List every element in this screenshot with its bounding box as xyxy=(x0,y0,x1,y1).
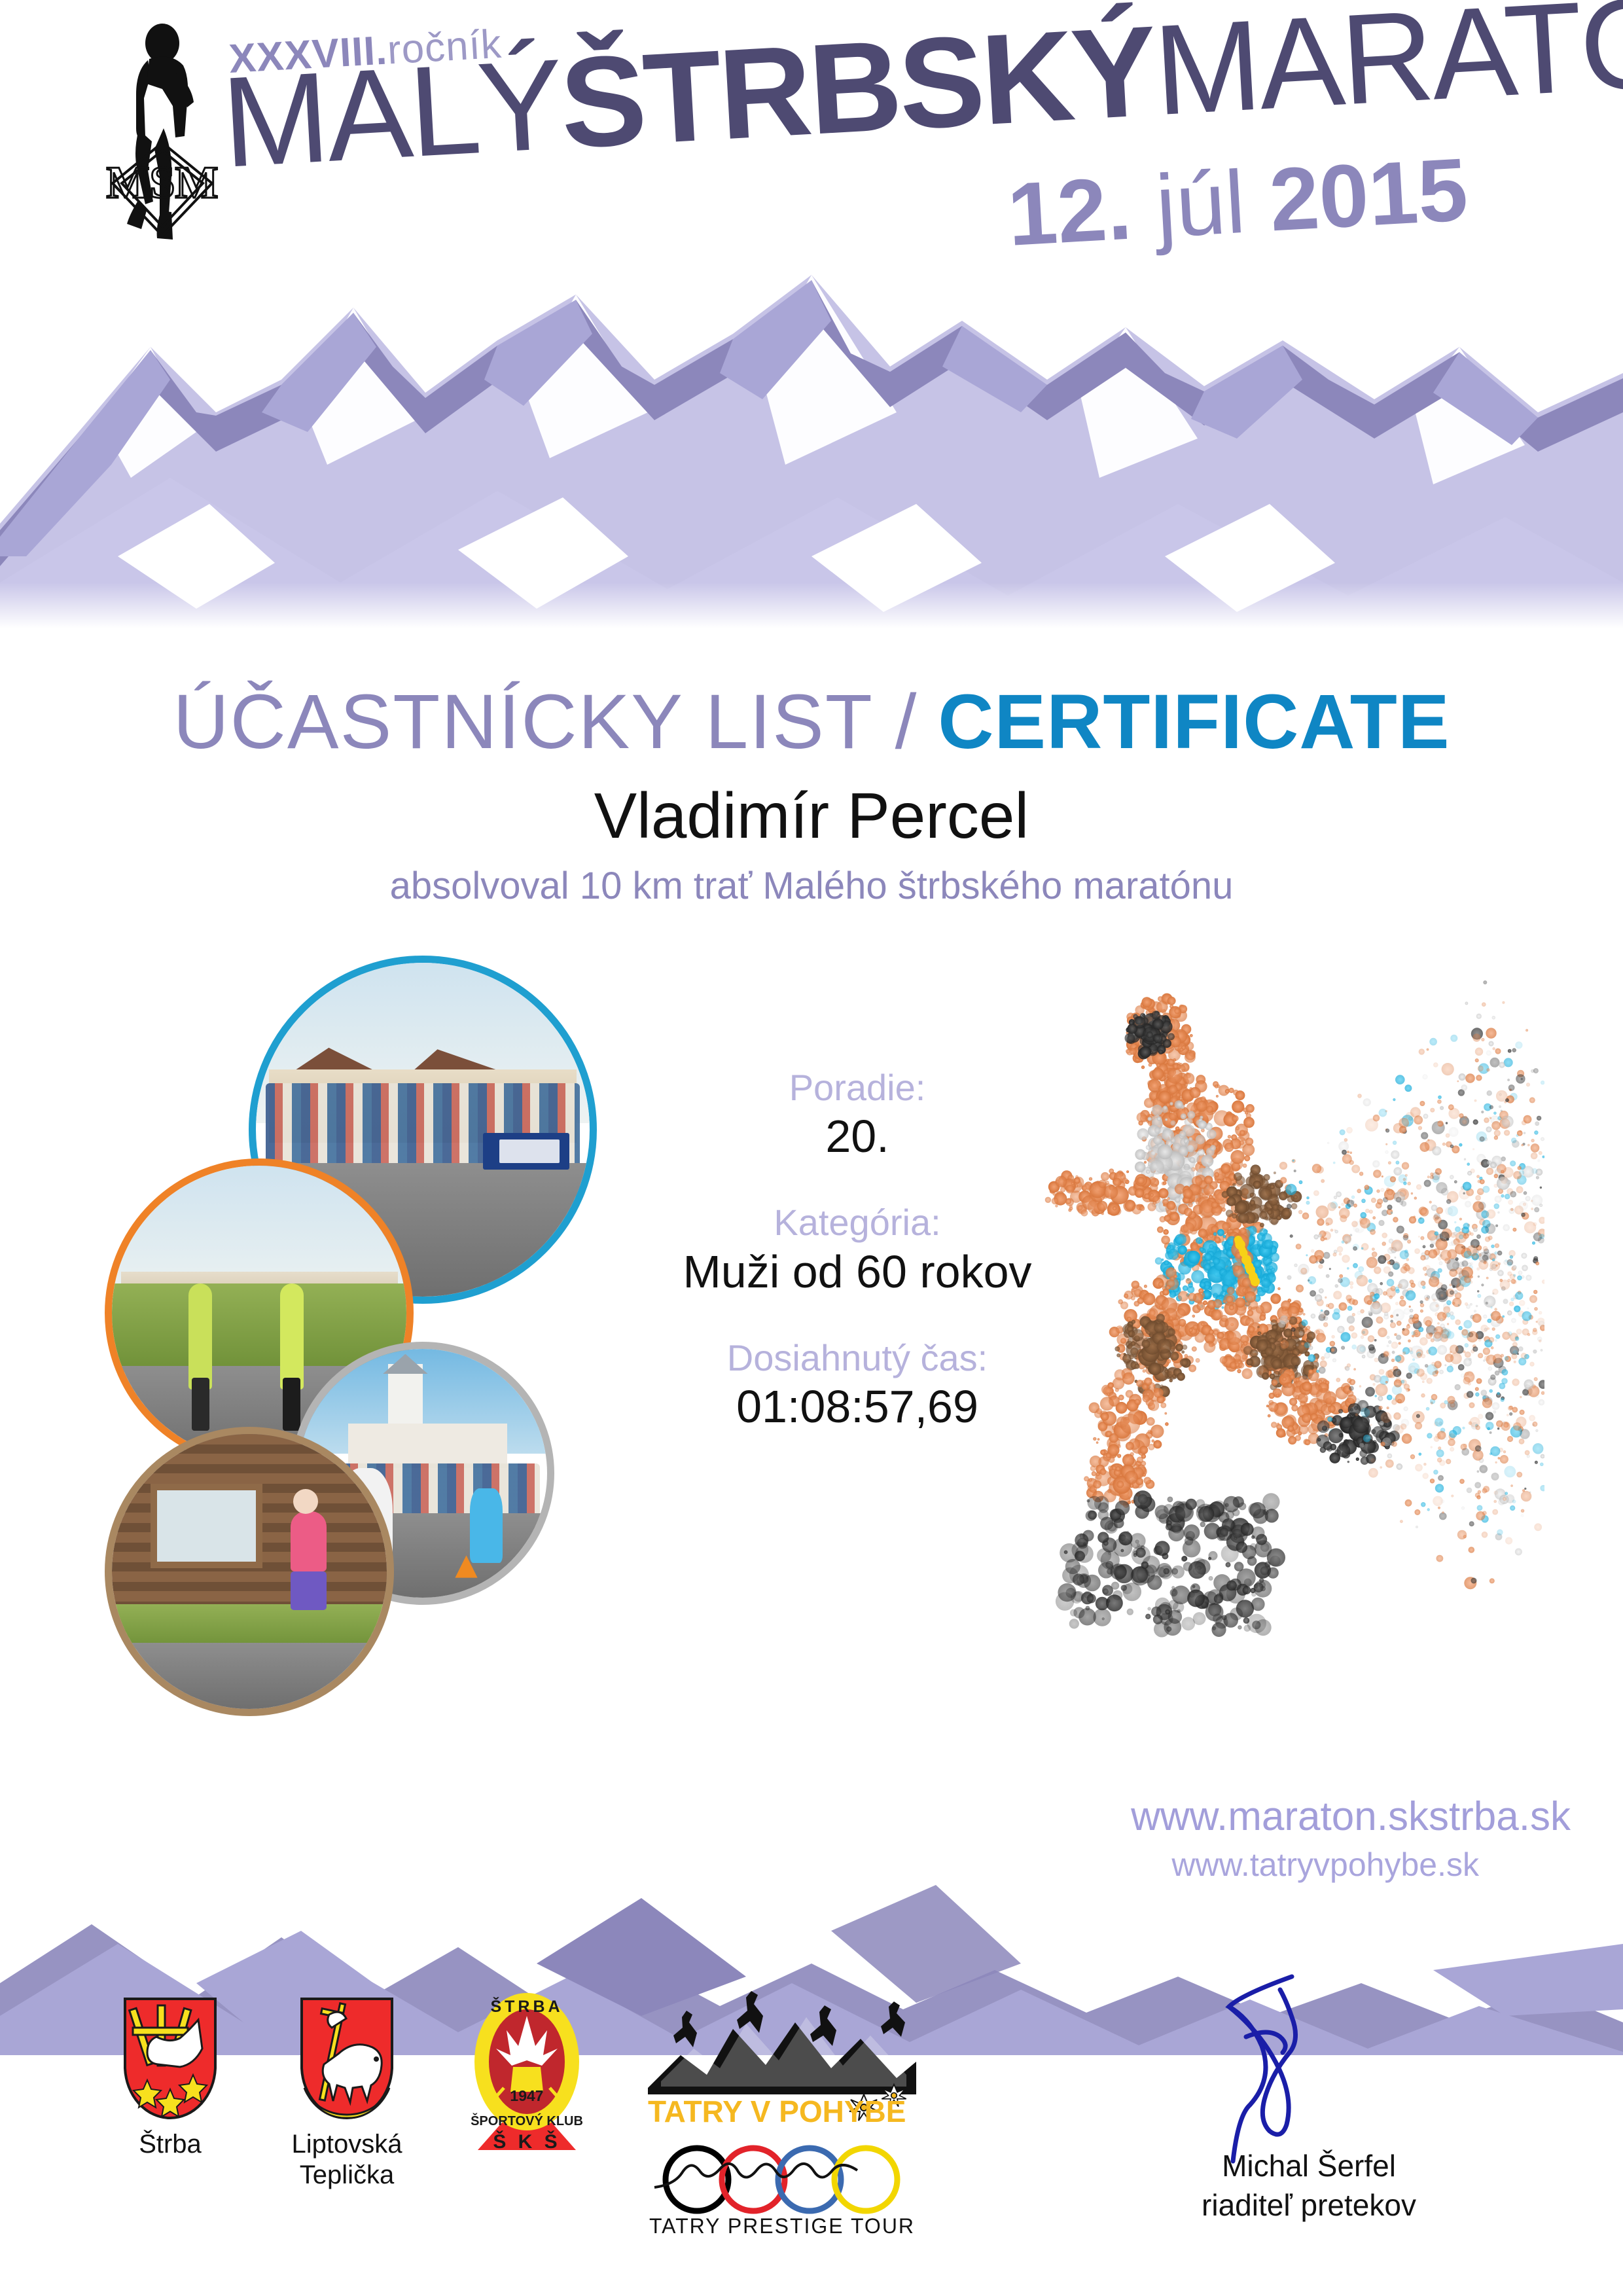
signature-role: riaditeľ pretekov xyxy=(1099,2186,1518,2225)
mountain-band-graphic xyxy=(0,216,1623,648)
sponsor-sks-strba: ŠTRBA 1947 ŠPORTOVÝ KLUB Š K Š xyxy=(445,1990,609,2157)
signature-name: Michal Šerfel xyxy=(1099,2147,1518,2186)
sks-arc-text: ŠPORTOVÝ KLUB xyxy=(471,2113,583,2128)
secondary-website-link[interactable]: www.tatryvpohybe.sk xyxy=(0,1846,1479,1884)
sponsor-strba-caption: Štrba xyxy=(98,2129,242,2160)
sponsor-liptovska-teplicka-caption: Liptovská Teplička xyxy=(262,2129,432,2191)
primary-website-link[interactable]: www.maraton.skstrba.sk xyxy=(0,1793,1571,1840)
certificate-title-separator: / xyxy=(874,679,938,765)
certificate-page: MSM XXXVIII.ročník MALÝŠTRBSKÝMARATÓN 12… xyxy=(0,0,1623,2296)
strba-crest-icon xyxy=(121,1996,219,2121)
sks-bottom-text: Š K Š xyxy=(493,2130,560,2153)
liptovska-teplicka-crest-icon xyxy=(298,1996,396,2121)
footer: Štrba Liptovská Teplička xyxy=(0,1977,1623,2296)
achievement-text: absolvoval 10 km trať Malého štrbského m… xyxy=(0,864,1623,908)
msm-monogram: MSM xyxy=(106,158,218,208)
certificate-title: ÚČASTNÍCKY LIST / CERTIFICATE xyxy=(0,677,1623,766)
sks-year: 1947 xyxy=(510,2087,543,2104)
sks-strba-logo-icon: ŠTRBA 1947 ŠPORTOVÝ KLUB Š K Š xyxy=(458,1990,596,2153)
tatry-title: TATRY V POHYBE xyxy=(648,2094,906,2128)
tatry-v-pohybe-logo-icon: TATRY V POHYBE TATRY PRESTIGE TOUR xyxy=(635,1983,929,2245)
dot-runner-graphic xyxy=(1001,962,1544,1682)
sponsor-liptovska-teplicka: Liptovská Teplička xyxy=(262,1996,432,2191)
signature-block: Michal Šerfel riaditeľ pretekov xyxy=(1099,1983,1518,2225)
title-strbsky: ŠTRBSKÝ xyxy=(557,0,1158,175)
title-maraton: MARATÓN xyxy=(1150,0,1623,142)
certificate-title-sk: ÚČASTNÍCKY LIST xyxy=(173,679,873,765)
photo-woman-runner xyxy=(105,1427,394,1716)
sponsor-tatry-v-pohybe: TATRY V POHYBE TATRY PRESTIGE TOUR xyxy=(628,1983,936,2248)
photo-collage xyxy=(92,942,635,1813)
sks-top-text: ŠTRBA xyxy=(490,1996,563,2016)
sponsor-strba: Štrba xyxy=(98,1996,242,2160)
participant-name: Vladimír Percel xyxy=(0,779,1623,853)
title-maly: MALÝ xyxy=(219,32,565,194)
certificate-title-en: CERTIFICATE xyxy=(938,679,1450,765)
tatry-prestige-subtitle: TATRY PRESTIGE TOUR xyxy=(649,2214,915,2238)
